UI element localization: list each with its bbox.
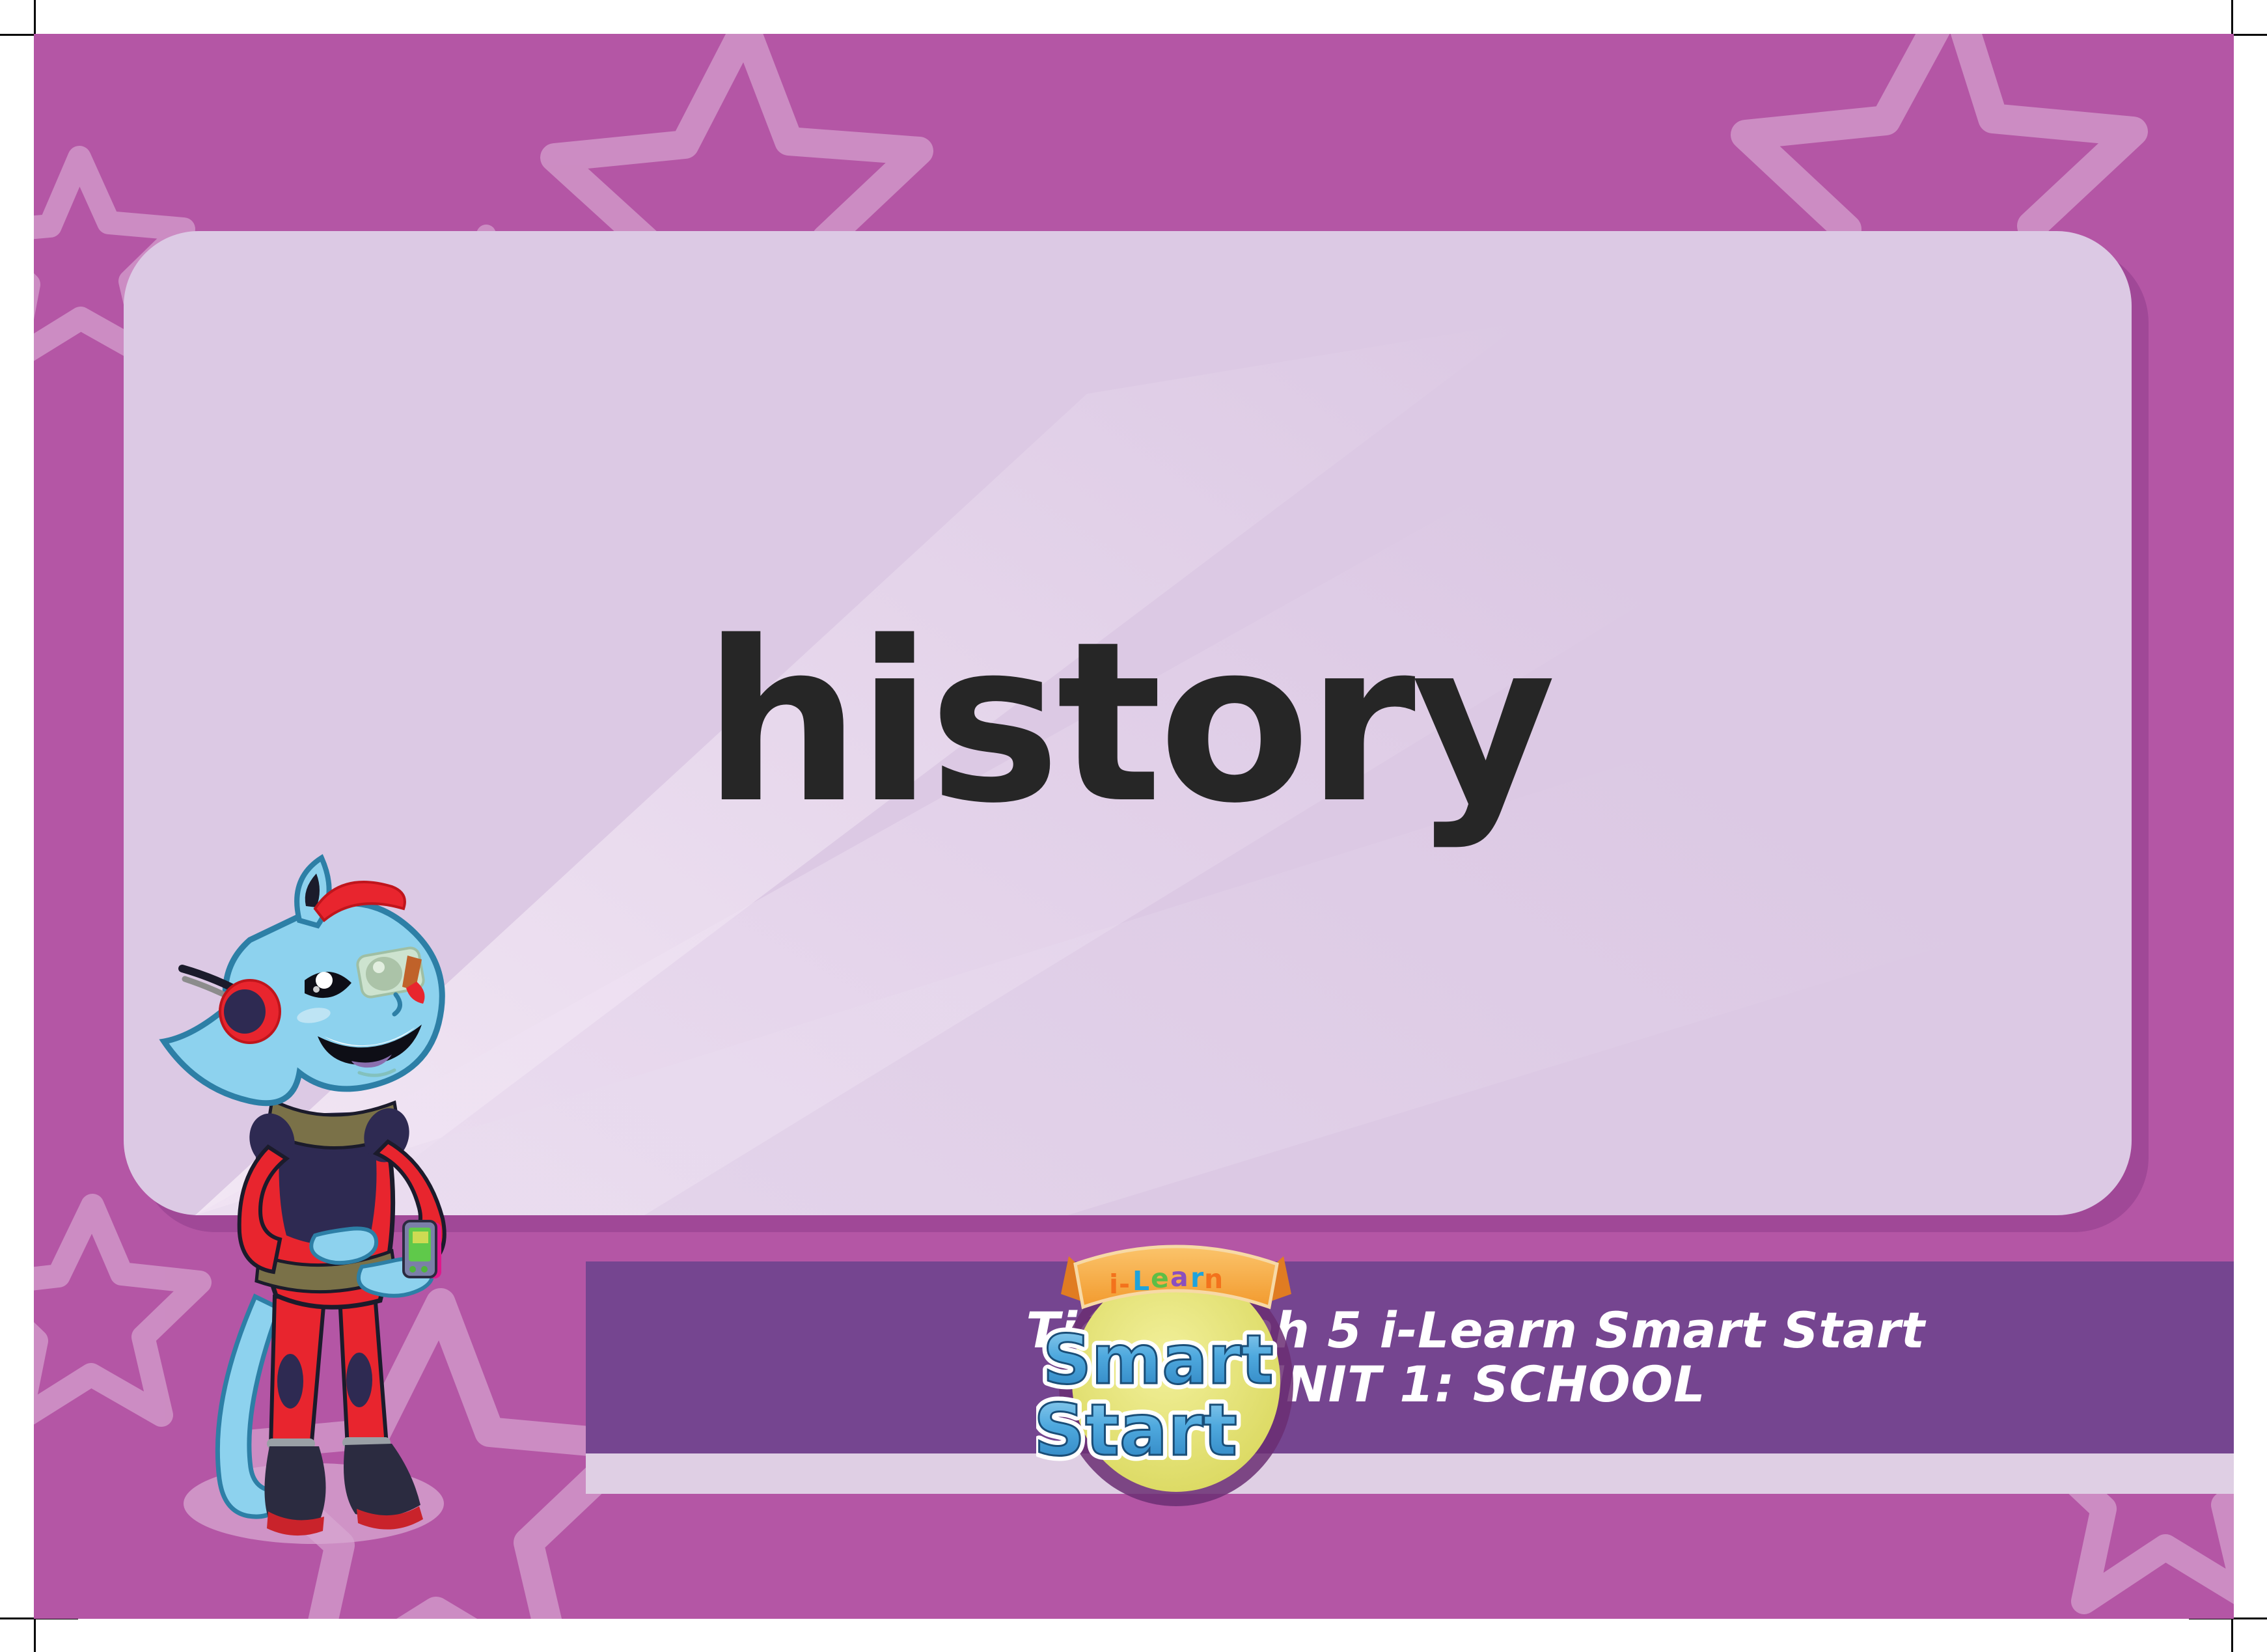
logo-letter-L: L: [1133, 1265, 1149, 1297]
smart-start-logo: i - L e a r n Smart Start Smart Start: [1036, 1230, 1316, 1510]
logo-letter-i: i: [1109, 1269, 1118, 1300]
mascot-device: [404, 1221, 441, 1278]
lesson-banner-text: Tiếng Anh 5 i-Learn Smart Start UNIT 1: …: [717, 1261, 2234, 1453]
mascot-boot-left: [264, 1446, 325, 1524]
logo-letter-a: a: [1170, 1261, 1188, 1293]
mascot-hand-left: [311, 1228, 376, 1263]
logo-letter-dash: -: [1119, 1269, 1130, 1300]
mascot-boot-right: [344, 1444, 420, 1517]
banner-bottom-strip: [586, 1453, 2234, 1494]
logo-letter-r: r: [1190, 1262, 1204, 1293]
svg-text:Start: Start: [1036, 1388, 1237, 1472]
flashcard-page: history Tiếng Anh 5 i-Learn Smart Start …: [0, 0, 2267, 1652]
card-background: history Tiếng Anh 5 i-Learn Smart Start …: [34, 34, 2234, 1619]
svg-text:Smart: Smart: [1043, 1320, 1273, 1399]
alien-mascot: [144, 841, 509, 1563]
logo-letter-e: e: [1151, 1263, 1169, 1294]
logo-letter-n: n: [1204, 1263, 1223, 1295]
